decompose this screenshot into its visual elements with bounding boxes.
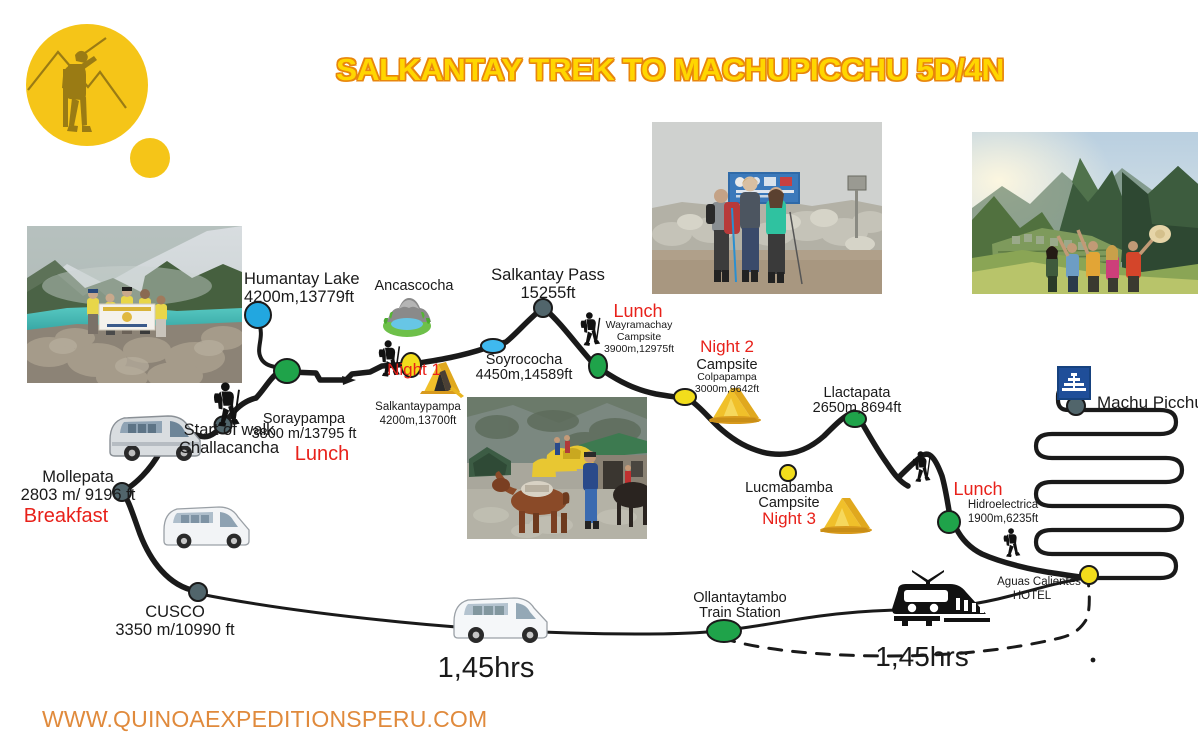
bus-icon-cusco-road — [454, 598, 547, 643]
label-llactapata-title: Llactapata — [824, 385, 891, 401]
machu-picchu-icon — [1057, 366, 1091, 400]
marker-aguas-calientes — [1080, 566, 1098, 584]
route-path-wayramachay-colpapampa — [602, 370, 682, 398]
label-ollantaytambo-sub: Train Station — [699, 605, 781, 621]
label-mollepata-altitude: 2803 m/ 9196 ft — [21, 486, 136, 504]
label-soraypampa-title: Soraypampa — [263, 411, 345, 427]
label-ollantaytambo-title: Ollantaytambo — [693, 590, 787, 606]
lagoon-icon-ancascocha — [383, 298, 431, 337]
label-salkantay-pass-altitude: 15255ft — [520, 284, 575, 302]
route-dot-end — [1091, 658, 1096, 663]
label-llactapata-altitude: 2650m,8694ft — [813, 400, 902, 416]
label-lucmabamba-title: Lucmabamba — [745, 480, 833, 496]
train-icon — [892, 570, 990, 626]
label-salkantaypampa-title: Salkantaypampa — [375, 401, 461, 414]
label-soyrococha-title: Soyrococha — [486, 352, 563, 368]
label-soraypampa-altitude: 3800 m/13795 ft — [252, 426, 357, 442]
marker-soraypampa — [274, 359, 300, 383]
label-wayramachay-altitude: 3900m,12975ft — [604, 344, 674, 356]
label-hidroelectrica-altitude: 1900m,6235ft — [968, 513, 1038, 526]
label-lucmabamba-meal: Night 3 — [762, 509, 816, 528]
marker-lucmabamba — [780, 465, 796, 481]
label-cusco-title: CUSCO — [145, 603, 205, 621]
route-path-switchbacks — [1036, 386, 1182, 578]
label-bus-duration: 1,45hrs — [438, 652, 535, 684]
label-colpapampa-altitude: 3000m,9642ft — [695, 384, 759, 396]
label-aguas-calientes-sub: HOTEL — [1013, 590, 1051, 603]
hiker-icon-aguas-calientes — [1004, 528, 1021, 557]
label-humantay-altitude: 4200m,13779ft — [244, 288, 354, 306]
bus-icon-lower — [164, 507, 249, 548]
marker-hidroelectrica — [938, 511, 960, 533]
marker-cusco — [189, 583, 207, 601]
label-aguas-calientes-title: Aguas Calientes — [997, 576, 1081, 589]
label-mollepata-title: Mollepata — [42, 468, 114, 486]
label-machu-picchu-title: Machu Picchu — [1097, 393, 1198, 412]
tent-icon-night3 — [820, 498, 872, 534]
label-salkantay-pass-title: Salkantay Pass — [491, 266, 605, 284]
label-train-duration: 1,45hrs — [875, 641, 968, 672]
label-salkantaypampa-meal: Night 1 — [387, 360, 441, 379]
footer-url[interactable]: WWW.QUINOAEXPEDITIONSPERU.COM — [42, 706, 487, 733]
hiker-icon-salkantay-descent — [581, 312, 601, 346]
label-hidroelectrica-meal: Lunch — [953, 479, 1002, 499]
label-ancascocha-title: Ancascocha — [375, 278, 454, 294]
trek-map-page: SALKANTAY TREK TO MACHUPICCHU 5D/4N — [0, 0, 1198, 736]
label-soyrococha-altitude: 4450m,14589ft — [476, 367, 573, 383]
label-wayramachay-title: Wayramachay — [606, 320, 673, 332]
label-soraypampa-meal: Lunch — [295, 443, 350, 465]
label-hidroelectrica-title: Hidroelectrica — [968, 499, 1038, 512]
marker-wayramachay — [589, 354, 607, 378]
marker-ollantaytambo — [707, 620, 741, 642]
marker-soyrococha — [481, 339, 505, 353]
label-salkantaypampa-altitude: 4200m,13700ft — [380, 415, 457, 428]
label-wayramachay-sub: Campsite — [617, 332, 661, 344]
label-humantay-title: Humantay Lake — [244, 270, 360, 288]
label-colpapampa-meal: Night 2 — [700, 337, 754, 356]
label-mollepata-meal: Breakfast — [24, 505, 108, 527]
label-cusco-altitude: 3350 m/10990 ft — [115, 621, 234, 639]
marker-colpapampa — [674, 389, 696, 405]
label-colpapampa-sub: Colpapampa — [697, 372, 757, 384]
